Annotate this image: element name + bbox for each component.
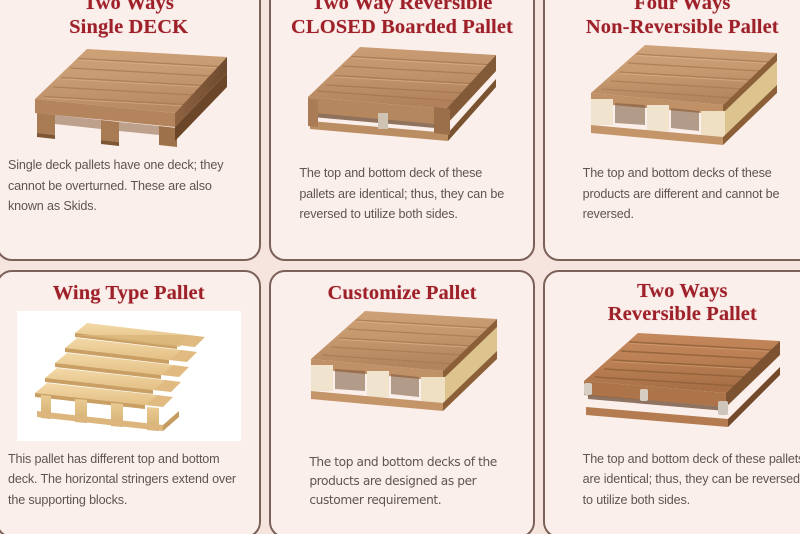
card-title-line1: Wing Type Pallet bbox=[53, 282, 205, 304]
card-four-ways-non-reversible-pallet[interactable]: Four Ways Non-Reversible Pallet bbox=[543, 0, 800, 261]
card-two-way-reversible-closed-boarded-pallet[interactable]: Two Way Reversible CLOSED Boarded Pallet bbox=[269, 0, 534, 261]
card-customize-pallet[interactable]: Customize Pallet bbox=[269, 270, 534, 534]
card-description: The top and bottom decks of the products… bbox=[281, 453, 522, 528]
card-title: Four Ways Non-Reversible Pallet bbox=[586, 0, 779, 39]
card-title-line2: Non-Reversible Pallet bbox=[586, 16, 779, 38]
four-way-block-pallet-photo bbox=[555, 41, 800, 155]
card-title-line2: CLOSED Boarded Pallet bbox=[291, 16, 513, 38]
card-title-line1: Two Ways bbox=[83, 0, 174, 14]
card-description: Single deck pallets have one deck; they … bbox=[8, 155, 249, 256]
card-title: Customize Pallet bbox=[327, 280, 476, 306]
card-title: Two Ways Reversible Pallet bbox=[608, 280, 757, 327]
card-title: Two Ways Single DECK bbox=[69, 0, 188, 39]
card-description: The top and bottom decks of these produc… bbox=[555, 163, 800, 250]
card-title-line1: Four Ways bbox=[634, 0, 730, 14]
two-way-reversible-pallet-photo bbox=[555, 327, 800, 441]
customize-block-pallet-photo bbox=[281, 307, 522, 421]
card-title-line1: Two Ways bbox=[637, 280, 728, 302]
card-two-ways-single-deck[interactable]: Two Ways Single DECK bbox=[0, 0, 261, 261]
card-grid: Two Ways Single DECK bbox=[0, 0, 800, 534]
card-description-line1: The top and bottom decks of the bbox=[309, 453, 520, 472]
card-description-line3: customer requirement. bbox=[309, 491, 520, 510]
card-two-ways-reversible-pallet[interactable]: Two Ways Reversible Pallet bbox=[543, 270, 800, 534]
card-title-line2: Reversible Pallet bbox=[608, 303, 757, 325]
card-description: This pallet has different top and bottom… bbox=[8, 449, 249, 528]
card-description: The top and bottom deck of these pallets… bbox=[555, 449, 800, 528]
card-description-line2: products are designed as per bbox=[309, 472, 520, 491]
card-title-line1: Customize Pallet bbox=[327, 282, 476, 304]
pallet-types-infographic: Two Ways Single DECK bbox=[0, 0, 800, 534]
card-wing-type-pallet[interactable]: Wing Type Pallet bbox=[0, 270, 261, 534]
card-title-line2: Single DECK bbox=[69, 16, 188, 38]
card-title-line1: Two Way Reversible bbox=[312, 0, 493, 14]
single-deck-pallet-photo bbox=[8, 43, 249, 155]
wing-type-pallet-photo bbox=[17, 311, 241, 441]
card-title: Wing Type Pallet bbox=[53, 280, 205, 306]
closed-boarded-pallet-photo bbox=[281, 43, 522, 153]
card-title: Two Way Reversible CLOSED Boarded Pallet bbox=[291, 0, 513, 39]
card-description: The top and bottom deck of these pallets… bbox=[281, 163, 522, 250]
